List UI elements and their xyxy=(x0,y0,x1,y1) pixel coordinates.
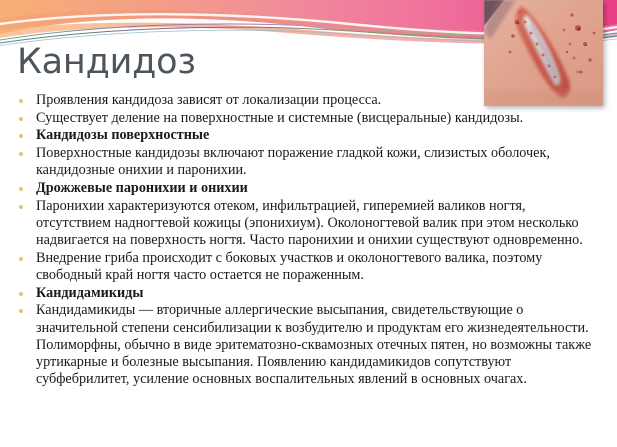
bullet-text: Дрожжевые паронихии и онихии xyxy=(36,180,506,197)
bullet-item: Поверхностные кандидозы включают поражен… xyxy=(10,145,610,179)
bullet-dot-icon xyxy=(19,292,23,296)
bullet-item: Внедрение гриба происходит с боковых уча… xyxy=(10,250,610,284)
bullet-item: Проявления кандидоза зависят от локализа… xyxy=(10,92,610,109)
bullet-dot-icon xyxy=(19,99,23,103)
bullet-heading: Кандидозы поверхностные xyxy=(10,127,610,144)
bullet-heading: Кандидамикиды xyxy=(10,285,610,302)
bullet-dot-icon xyxy=(19,309,23,313)
presentation-slide: Кандидоз Проявления кандидоза зависят от… xyxy=(0,0,617,447)
bullet-item: Паронихии характеризуются отеком, инфиль… xyxy=(10,198,610,250)
bullet-text: Паронихии характеризуются отеком, инфиль… xyxy=(36,198,596,250)
bullet-text: Поверхностные кандидозы включают поражен… xyxy=(36,145,596,179)
photo-content xyxy=(484,0,603,106)
bullet-text: Кандидамикиды — вторичные аллергические … xyxy=(36,302,596,388)
bullet-dot-icon xyxy=(19,257,23,261)
bullet-list: Проявления кандидоза зависят от локализа… xyxy=(10,92,610,389)
bullet-text: Проявления кандидоза зависят от локализа… xyxy=(36,92,506,109)
candidiasis-clinical-photo xyxy=(484,0,603,106)
bullet-dot-icon xyxy=(19,205,23,209)
bullet-dot-icon xyxy=(19,134,23,138)
bullet-item: Существует деление на поверхностные и си… xyxy=(10,110,610,127)
page-title: Кандидоз xyxy=(17,42,196,82)
bullet-dot-icon xyxy=(19,152,23,156)
bullet-text: Кандидамикиды xyxy=(36,285,506,302)
bullet-text: Существует деление на поверхностные и си… xyxy=(36,110,576,127)
bullet-item: Кандидамикиды — вторичные аллергические … xyxy=(10,302,610,388)
bullet-text: Внедрение гриба происходит с боковых уча… xyxy=(36,250,596,284)
bullet-text: Кандидозы поверхностные xyxy=(36,127,506,144)
bullet-heading: Дрожжевые паронихии и онихии xyxy=(10,180,610,197)
bullet-dot-icon xyxy=(19,187,23,191)
bullet-dot-icon xyxy=(19,117,23,121)
